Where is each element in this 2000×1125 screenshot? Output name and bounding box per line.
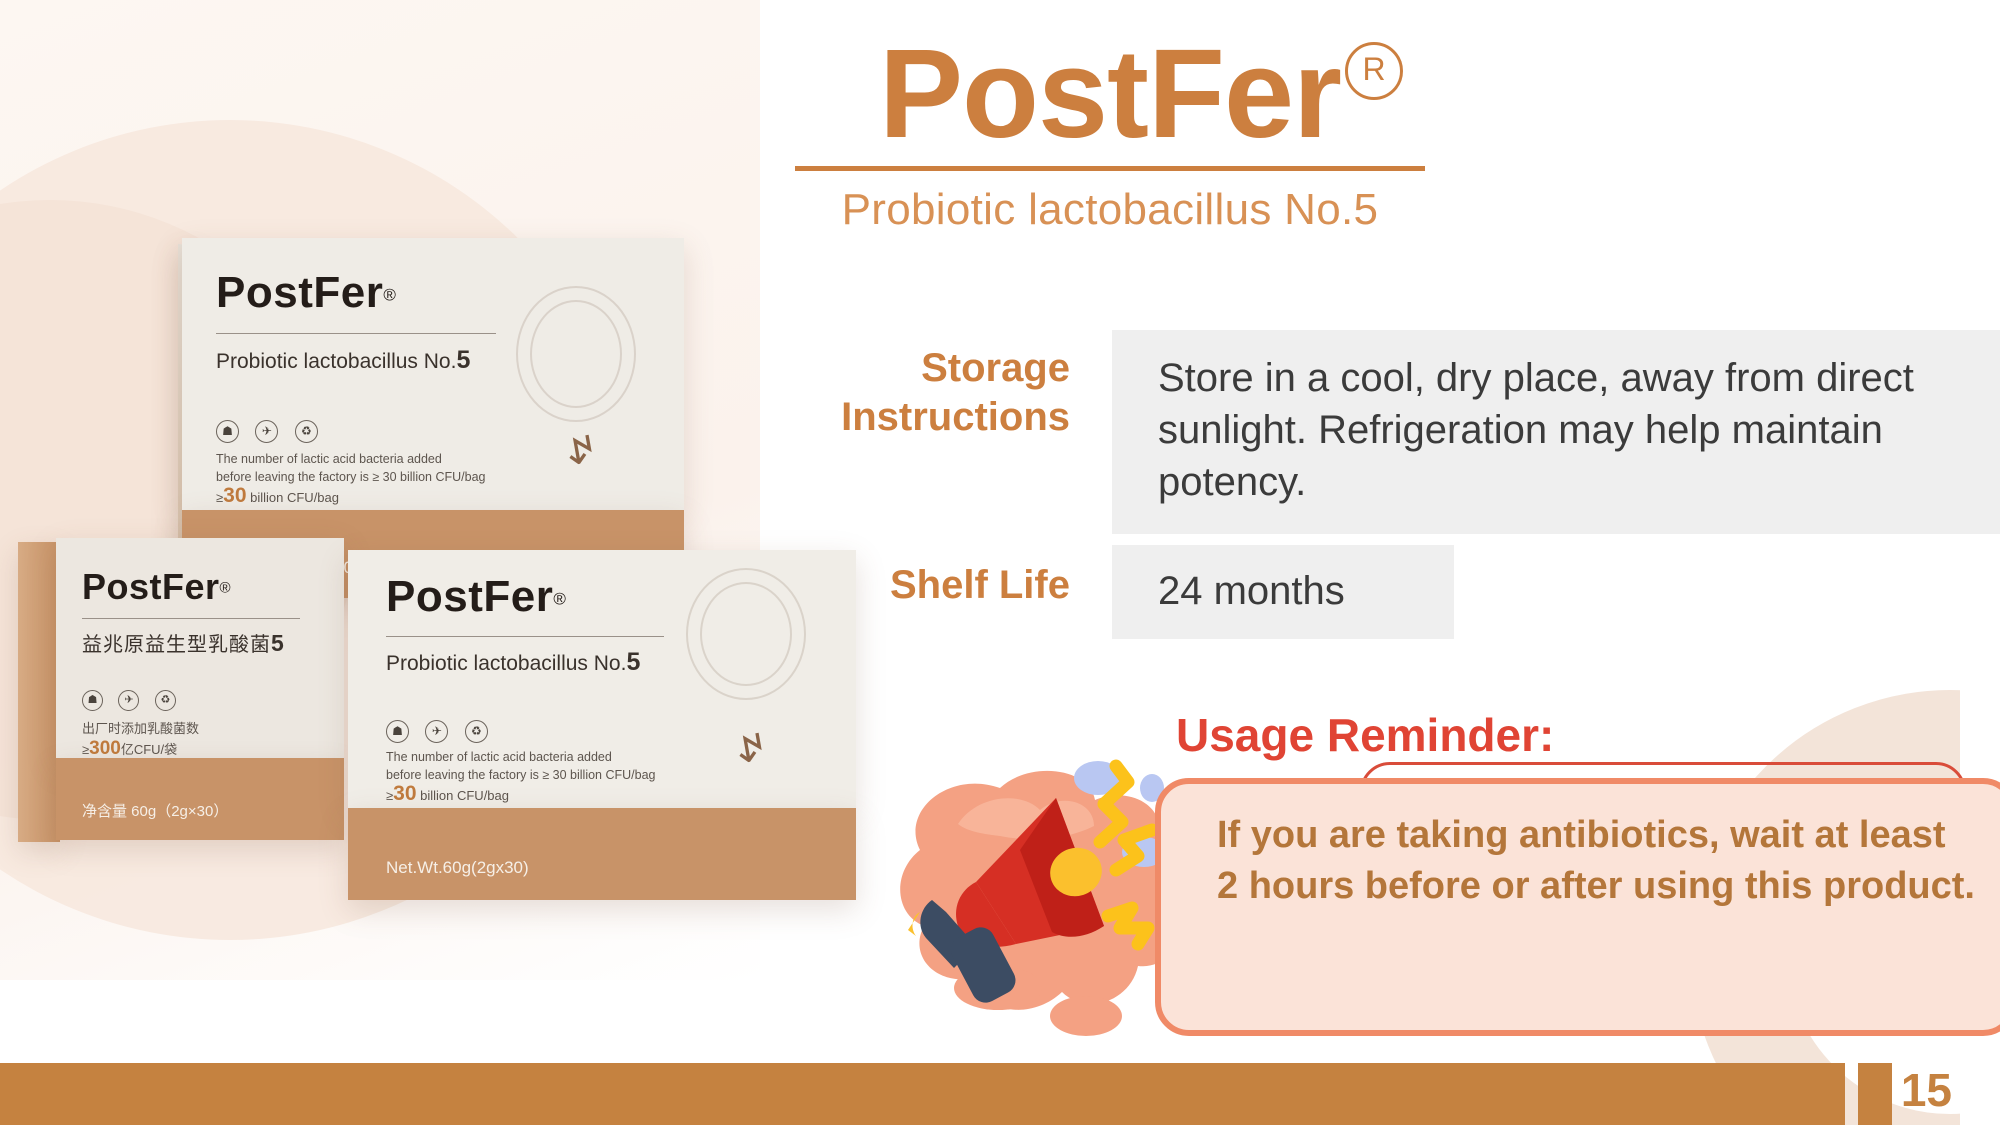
box-top-nose-icon: ↯: [564, 428, 598, 474]
slide: PostFer® Probiotic lactobacillus No.5 ☗ …: [0, 0, 2000, 1125]
usage-reminder-card: If you are taking antibiotics, wait at l…: [1155, 778, 2000, 1036]
box-left-note-line1: 出厂时添加乳酸菌数: [82, 718, 199, 737]
box-left-cfu-suffix: 亿CFU/袋: [121, 742, 177, 757]
box-front-subtitle: Probiotic lactobacillus No.: [386, 652, 626, 675]
box-front-face-lower: Net.Wt.60g(2gx30): [348, 808, 856, 900]
spec-value-shelf-life: 24 months: [1112, 545, 1454, 639]
box-front-rule: [386, 636, 664, 637]
box-left-subtitle: 益兆原益生型乳酸菌: [82, 634, 271, 656]
box-front-registered-icon: ®: [553, 590, 566, 609]
page-number: 15: [1901, 1063, 1952, 1117]
box-top-no-bleach-icon: ☗: [216, 420, 239, 443]
box-left-face-lower: 净含量 60g（2g×30）: [56, 758, 344, 840]
box-front-note-line1: The number of lactic acid bacteria added: [386, 748, 656, 766]
product-photo: PostFer® Probiotic lactobacillus No.5 ☗ …: [0, 250, 880, 1050]
box-left-face-upper: PostFer® 益兆原益生型乳酸菌5 ☗ ✈ ♻ 出厂时添加乳酸菌数 ≥300…: [56, 538, 344, 760]
box-front-no-flame-icon: ♻: [465, 720, 488, 743]
title-underline: [795, 166, 1425, 171]
box-left-side: [18, 542, 60, 842]
box-top-registered-icon: ®: [383, 286, 396, 305]
page-title: PostFer R Probiotic lactobacillus No.5: [760, 28, 1460, 235]
box-left-keep-dry-icon: ✈: [118, 690, 139, 711]
box-top-no-flame-icon: ♻: [295, 420, 318, 443]
box-left-no-bleach-icon: ☗: [82, 690, 103, 711]
box-top-cfu-suffix: billion CFU/bag: [250, 490, 339, 505]
box-front-cfu-suffix: billion CFU/bag: [420, 788, 509, 803]
box-front-net-weight: Net.Wt.60g(2gx30): [386, 858, 529, 878]
box-front-cfu-value: 30: [393, 782, 416, 805]
box-left-registered-icon: ®: [220, 580, 231, 597]
box-front-keep-dry-icon: ✈: [425, 720, 448, 743]
box-top-cfu-value: 30: [223, 484, 246, 507]
spec-row-storage: Storage Instructions Store in a cool, dr…: [760, 330, 2000, 534]
brand-lockup: PostFer R: [879, 28, 1341, 160]
box-front-subtitle-number: 5: [626, 648, 640, 676]
spec-value-storage: Store in a cool, dry place, away from di…: [1112, 330, 2000, 534]
footer-bar: [0, 1063, 1845, 1125]
box-top-face-upper: PostFer® Probiotic lactobacillus No.5 ☗ …: [182, 238, 684, 510]
box-top-rule: [216, 333, 496, 334]
box-top-emboss-2: [530, 300, 622, 408]
box-top-keep-dry-icon: ✈: [255, 420, 278, 443]
registered-trademark-icon: R: [1345, 42, 1403, 100]
box-left-cfu-value: 300: [89, 738, 121, 759]
box-left-rule: [82, 618, 300, 619]
usage-reminder-title: Usage Reminder:: [1176, 708, 1554, 762]
box-left-net-weight: 净含量 60g（2g×30）: [82, 800, 228, 821]
box-front-nose-icon: ↯: [734, 726, 768, 772]
box-left-no-flame-icon: ♻: [155, 690, 176, 711]
box-left-subtitle-number: 5: [271, 630, 285, 656]
spec-label-shelf-life: Shelf Life: [760, 545, 1070, 610]
usage-reminder-text: If you are taking antibiotics, wait at l…: [1217, 810, 1977, 912]
box-top-subtitle: Probiotic lactobacillus No.: [216, 350, 456, 373]
footer-accent-block: [1858, 1063, 1892, 1125]
brand-subtitle: Probiotic lactobacillus No.5: [760, 185, 1460, 235]
box-top-brand: PostFer: [216, 268, 383, 317]
brand-name: PostFer: [879, 23, 1341, 164]
spec-label-storage: Storage Instructions: [760, 330, 1070, 442]
box-front-no-bleach-icon: ☗: [386, 720, 409, 743]
box-top-note-line1: The number of lactic acid bacteria added: [216, 450, 486, 468]
box-top-subtitle-number: 5: [456, 346, 470, 374]
box-front-brand: PostFer: [386, 572, 553, 621]
box-left-brand: PostFer: [82, 566, 220, 607]
spec-row-shelf-life: Shelf Life 24 months: [760, 545, 1454, 639]
